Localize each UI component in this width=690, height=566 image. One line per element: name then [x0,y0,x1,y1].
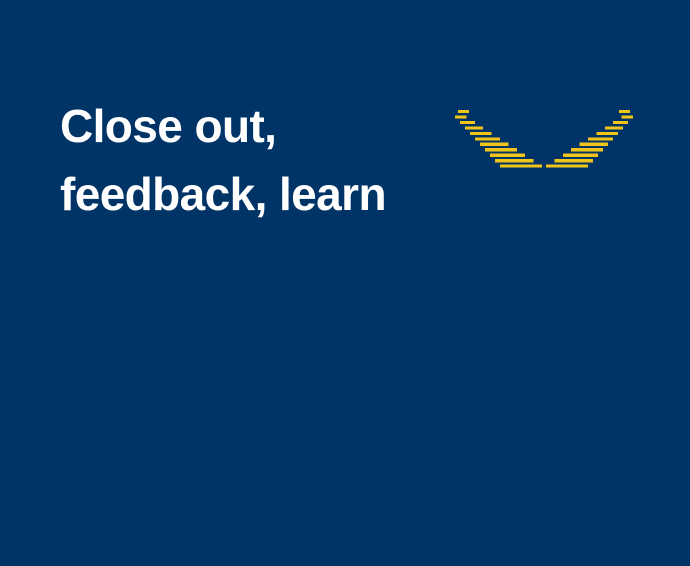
slide-canvas: Close out, feedback, learn [0,0,690,566]
wings-chevron-svg [455,110,633,170]
page-title: Close out, feedback, learn [60,92,460,228]
wings-chevron-icon [455,110,633,170]
headline-line-1: Close out, [60,92,460,160]
headline-line-2: feedback, learn [60,160,460,228]
